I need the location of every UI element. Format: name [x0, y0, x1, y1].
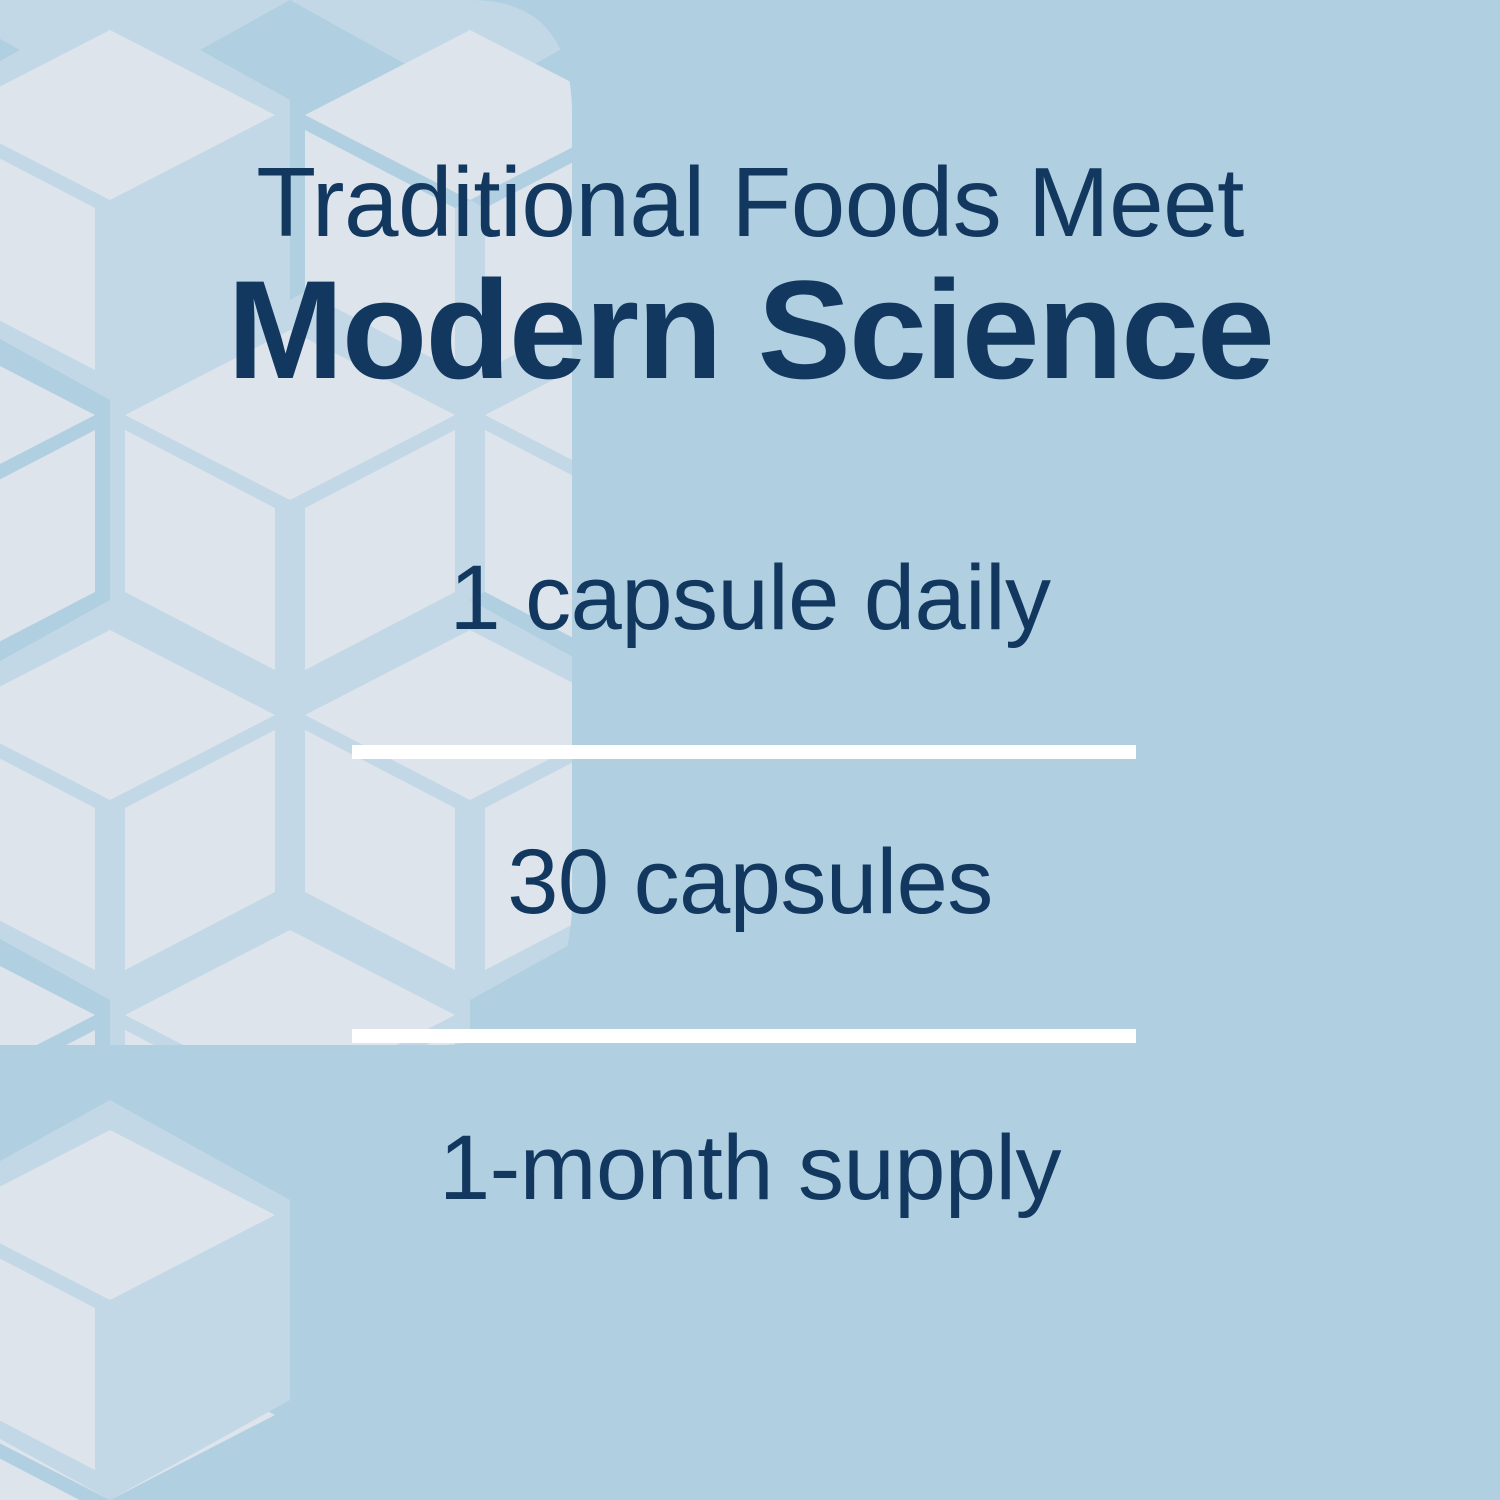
fact-count: 30 capsules: [0, 832, 1500, 932]
panel-content: Traditional Foods Meet Modern Science 1 …: [0, 0, 1500, 1500]
headline-line-1: Traditional Foods Meet: [0, 150, 1500, 254]
fact-dosage: 1 capsule daily: [0, 548, 1500, 648]
divider-2: [352, 1029, 1136, 1043]
fact-supply-duration: 1-month supply: [0, 1118, 1500, 1218]
divider-1: [352, 745, 1136, 759]
headline-block: Traditional Foods Meet Modern Science: [0, 150, 1500, 404]
product-info-panel: Traditional Foods Meet Modern Science 1 …: [0, 0, 1500, 1500]
headline-line-2: Modern Science: [0, 256, 1500, 404]
